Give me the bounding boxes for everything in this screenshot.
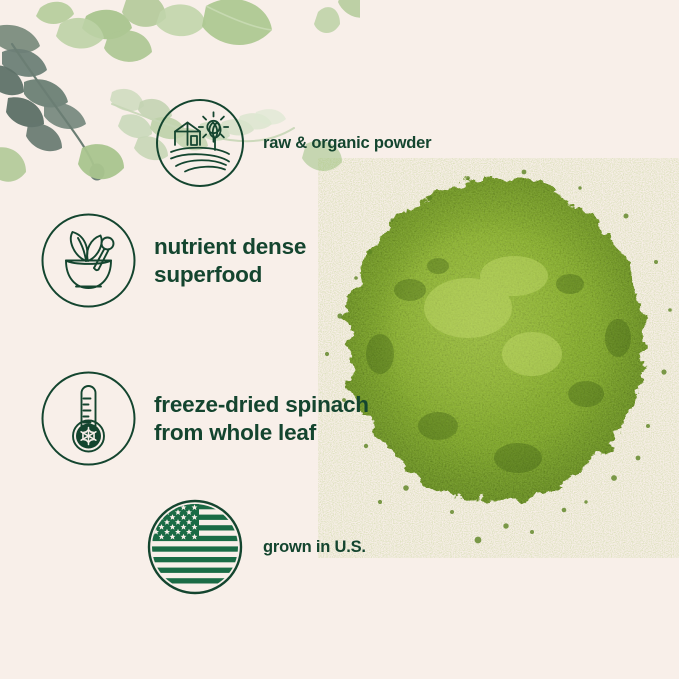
feature-label-freeze-dried-spinach: freeze-dried spinach from whole leaf xyxy=(154,391,369,446)
feature-raw-organic-powder: raw & organic powder xyxy=(155,98,431,188)
leaf-cluster-dark xyxy=(0,25,105,181)
powder-loose-grains xyxy=(325,170,672,544)
feature-label-raw-organic-powder: raw & organic powder xyxy=(263,133,431,154)
feature-label-grown-in-us: grown in U.S. xyxy=(263,537,366,558)
powder-scatter-dust xyxy=(318,158,676,544)
us-flag-icon xyxy=(145,497,245,597)
farm-sun-icon xyxy=(155,98,245,188)
feature-grown-in-us: grown in U.S. xyxy=(145,497,366,597)
feature-freeze-dried-spinach: freeze-dried spinach from whole leaf xyxy=(40,370,369,467)
thermometer-snowflake-icon xyxy=(40,370,137,467)
infographic-canvas: raw & organic powder xyxy=(0,0,679,679)
powder-mound xyxy=(318,158,679,558)
feature-nutrient-dense-superfood: nutrient dense superfood xyxy=(40,212,306,309)
feature-label-nutrient-dense-superfood: nutrient dense superfood xyxy=(154,233,306,288)
spinach-powder-pile-photo xyxy=(318,158,679,558)
mortar-pestle-leaf-icon xyxy=(40,212,137,309)
